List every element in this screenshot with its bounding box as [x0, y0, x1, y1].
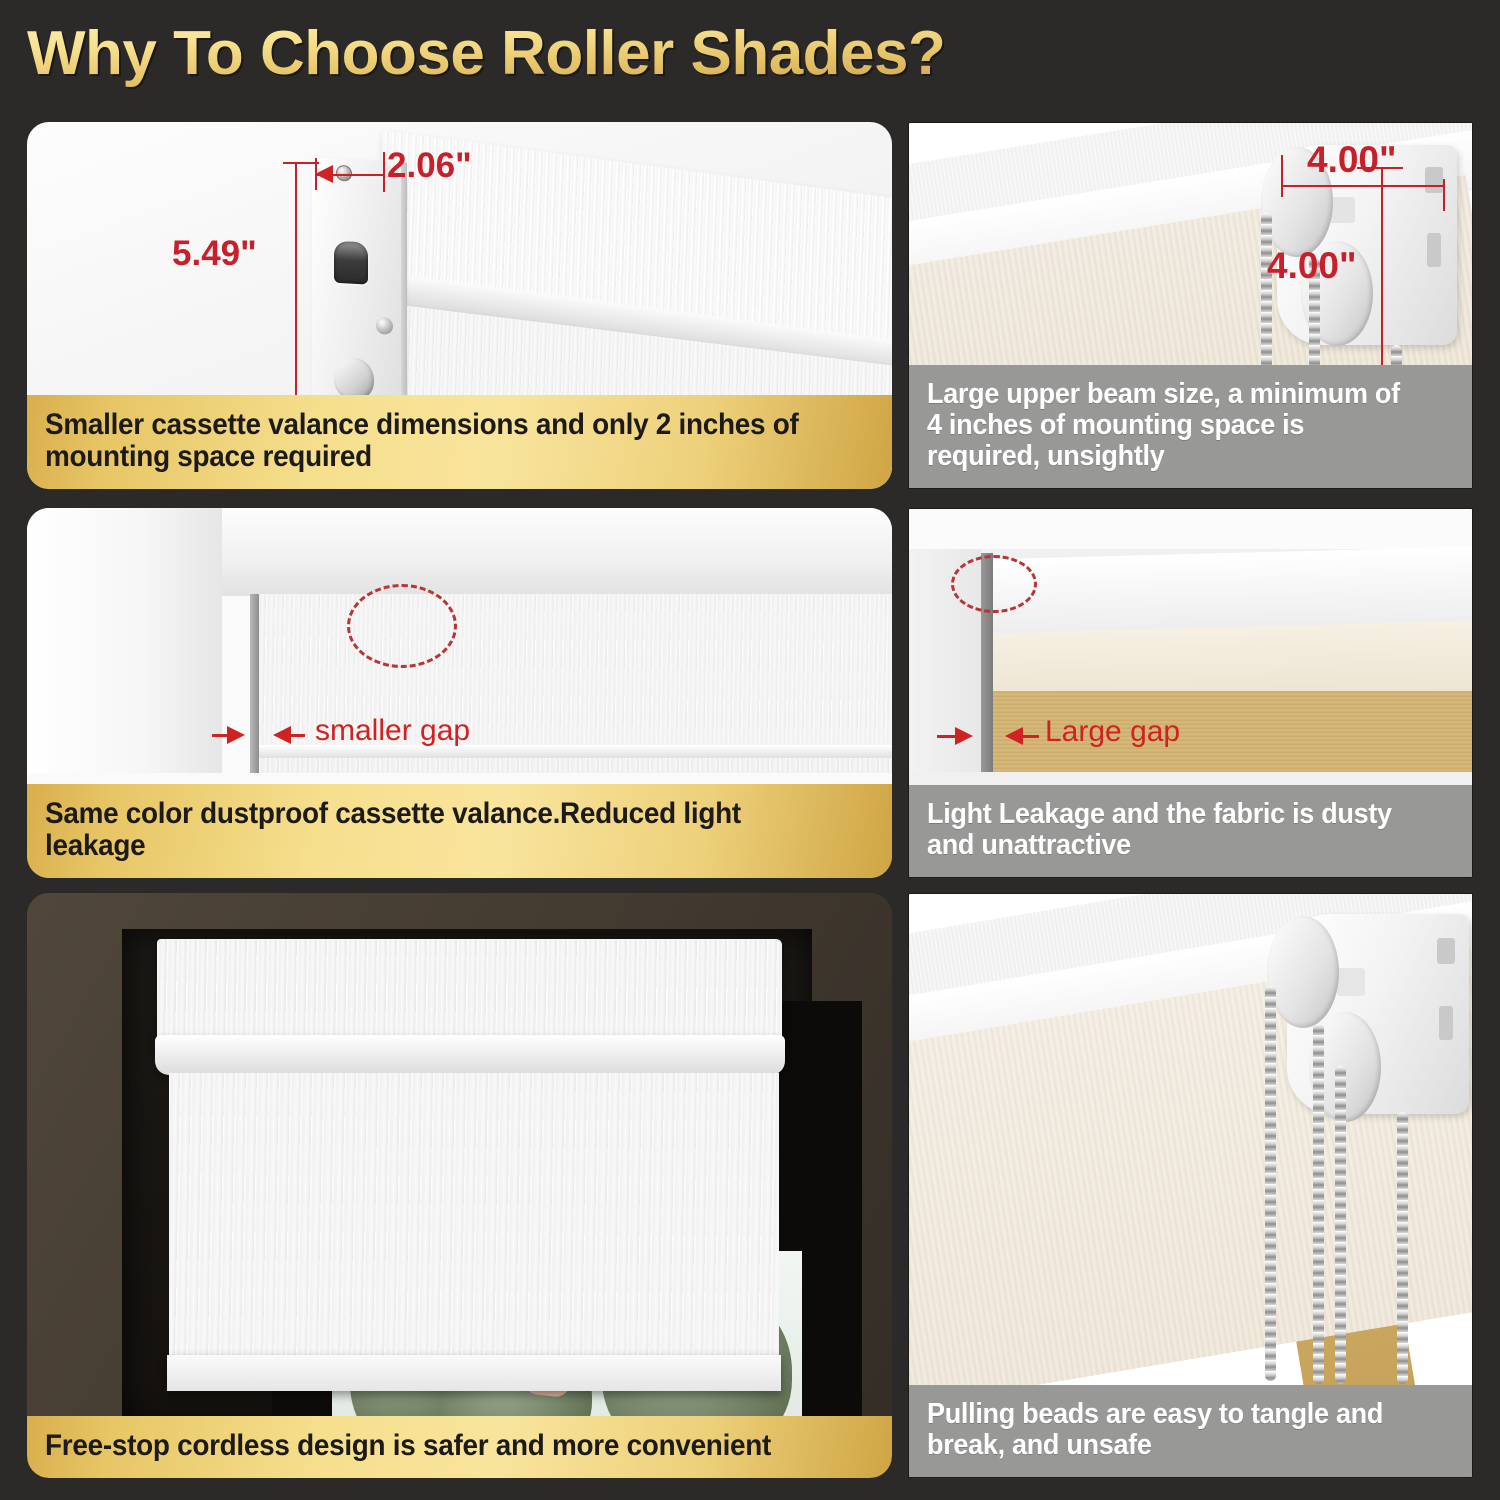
gap-edge	[250, 594, 259, 773]
dim-tick	[1281, 155, 1283, 197]
window-frame-top	[177, 508, 892, 596]
dim-label-beam-width: 4.00"	[1307, 139, 1397, 181]
dim-arrow-left-icon	[315, 165, 333, 183]
bead-chain	[1313, 1024, 1324, 1384]
bracket-notch	[1437, 938, 1455, 964]
caption-text: Same color dustproof cassette valance.Re…	[45, 798, 816, 862]
caption-text: Free-stop cordless design is safer and m…	[45, 1430, 816, 1462]
bead-chain	[1335, 1066, 1346, 1384]
dim-line-beam-height	[1381, 167, 1383, 379]
roller-disc	[1267, 916, 1339, 1028]
caption-text: Light Leakage and the fabric is dusty an…	[927, 799, 1417, 861]
dim-tick	[1357, 167, 1403, 169]
panel-same-color-dustproof-valance: smaller gap Same color dustproof cassett…	[27, 508, 892, 878]
callout-stem	[937, 735, 961, 738]
shade-lower-band	[259, 758, 892, 773]
highlight-circle	[951, 555, 1037, 613]
caption-same-color-dustproof-valance: Same color dustproof cassette valance.Re…	[27, 784, 892, 878]
photo-top-band	[909, 509, 1472, 549]
caption-light-leakage: Light Leakage and the fabric is dusty an…	[909, 785, 1472, 877]
dim-line-height	[295, 162, 297, 408]
panel-large-upper-beam: 4.00" 4.00" Large upper beam size, a min…	[908, 122, 1473, 489]
highlight-circle	[347, 584, 457, 668]
valance-lip	[155, 1035, 785, 1075]
dim-tick	[1443, 179, 1445, 211]
valance-end-cap	[312, 158, 404, 421]
bracket-notch	[1427, 233, 1441, 267]
callout-stem	[289, 734, 305, 737]
panel-smaller-cassette-valance: 2.06" 5.49" Smaller cassette valance dim…	[27, 122, 892, 489]
bead-chain	[1397, 1112, 1408, 1384]
dim-label-depth: 2.06"	[387, 146, 472, 186]
infographic-root: Why To Choose Roller Shades? Why To Choo…	[0, 0, 1500, 1500]
gap-label-smaller: smaller gap	[315, 714, 470, 748]
bead-chain	[1265, 986, 1276, 1381]
window-frame-left	[27, 508, 222, 773]
gap-label-large: Large gap	[1045, 715, 1180, 749]
dim-label-height: 5.49"	[172, 234, 257, 274]
dim-line-beam-width	[1281, 185, 1445, 187]
screw-icon	[376, 317, 393, 335]
bracket-notch	[1439, 1006, 1453, 1040]
panel-light-leakage: Large gap Light Leakage and the fabric i…	[908, 508, 1473, 878]
caption-text: Smaller cassette valance dimensions and …	[45, 409, 816, 473]
callout-stem	[1021, 735, 1039, 738]
callout-stem	[212, 734, 234, 737]
caption-text: Large upper beam size, a minimum of 4 in…	[927, 379, 1417, 472]
dim-tick	[283, 162, 319, 164]
panel-free-stop-cordless: Free-stop cordless design is safer and m…	[27, 893, 892, 1478]
caption-free-stop-cordless: Free-stop cordless design is safer and m…	[27, 1416, 892, 1478]
page-title: Why To Choose Roller Shades?	[27, 18, 945, 89]
photo-window-shade	[27, 893, 892, 1478]
shade-fabric	[169, 1073, 779, 1373]
caption-large-upper-beam: Large upper beam size, a minimum of 4 in…	[909, 365, 1472, 488]
shade-bottom-rail	[167, 1355, 781, 1391]
panel-pulling-beads: Pulling beads are easy to tangle and bre…	[908, 893, 1473, 1478]
bracket-notch	[1425, 167, 1443, 193]
bracket-emblem	[1337, 968, 1365, 996]
dim-tick	[383, 152, 385, 192]
valance-slot	[334, 241, 368, 285]
cassette-valance	[157, 939, 782, 1045]
caption-text: Pulling beads are easy to tangle and bre…	[927, 1399, 1417, 1461]
caption-pulling-beads: Pulling beads are easy to tangle and bre…	[909, 1385, 1472, 1477]
caption-smaller-cassette-valance: Smaller cassette valance dimensions and …	[27, 395, 892, 489]
dim-label-beam-height: 4.00"	[1267, 245, 1357, 287]
